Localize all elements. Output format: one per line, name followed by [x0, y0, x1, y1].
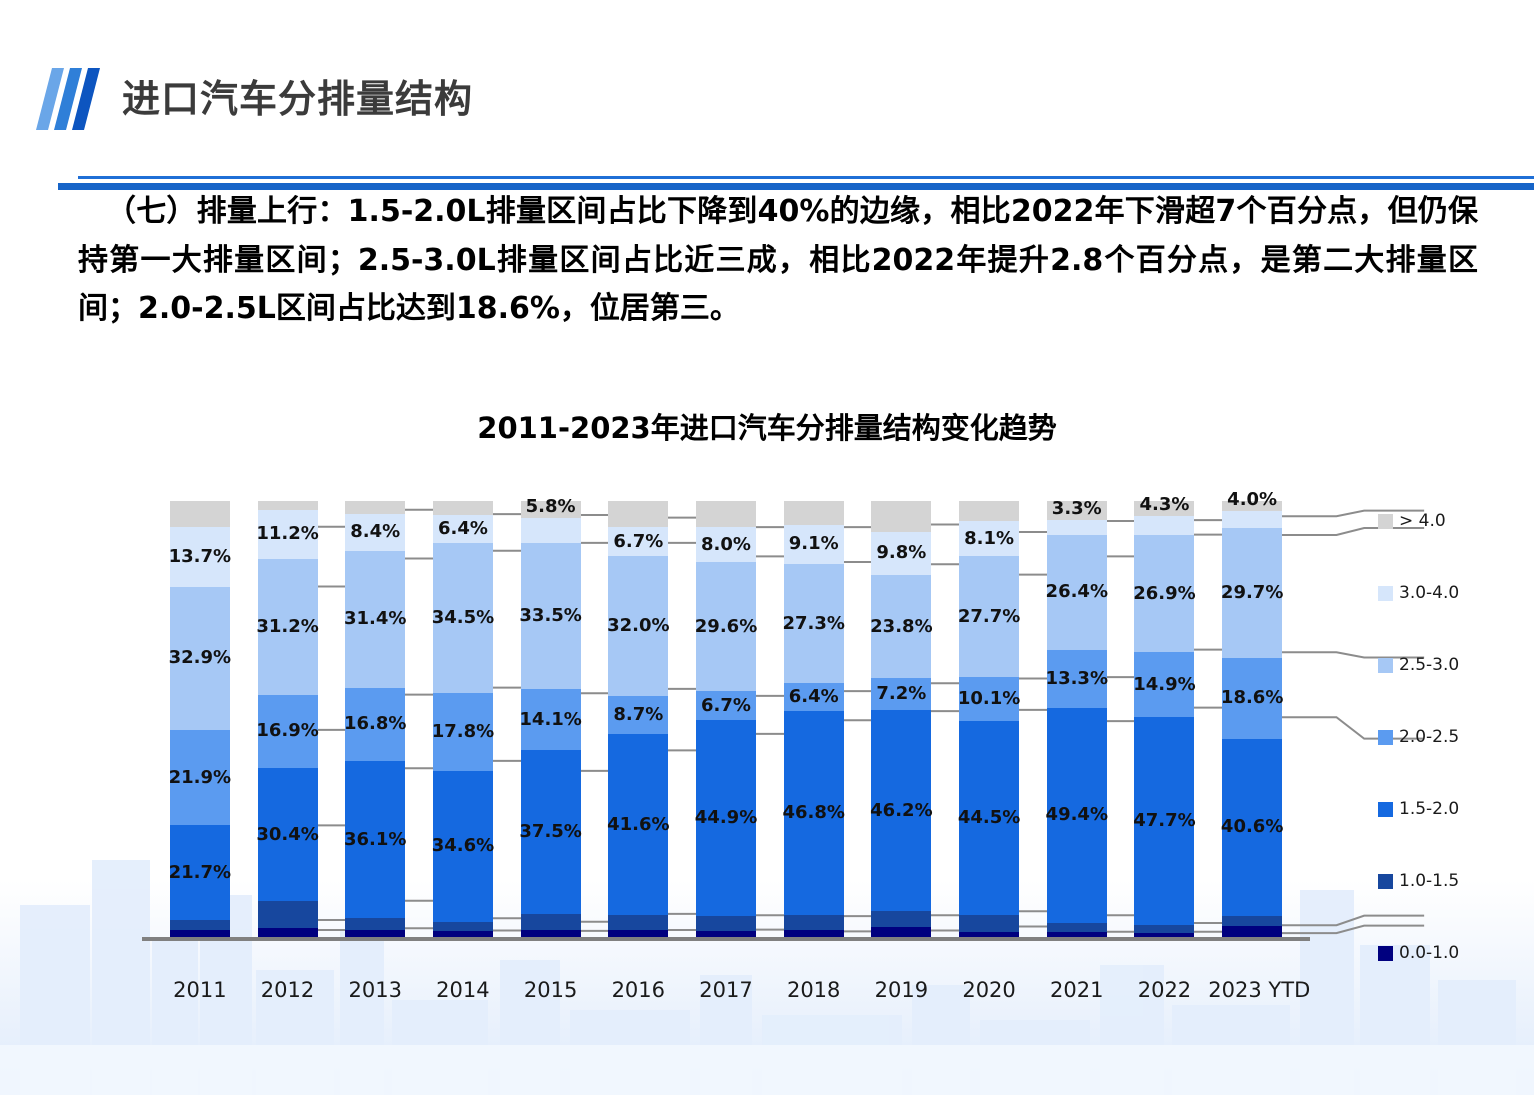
bar-segment	[170, 920, 230, 930]
legend-item[interactable]: 1.5-2.0	[1378, 800, 1459, 818]
bar-segment-label: 21.7%	[169, 864, 231, 882]
bar-segment: 21.7%	[170, 825, 230, 920]
bar-segment	[1222, 926, 1282, 937]
bar-segment-label: 27.3%	[782, 615, 844, 633]
bar-segment: 46.2%	[871, 710, 931, 911]
x-axis-label: 2019	[858, 978, 946, 1002]
bar-segment-label: 13.3%	[1046, 670, 1108, 688]
bar-segment	[871, 501, 931, 532]
bar-column: 49.4%13.3%26.4%3.3%	[1047, 501, 1107, 937]
bar-segment	[696, 916, 756, 931]
bar-column: 44.9%6.7%29.6%8.0%	[696, 501, 756, 937]
bar-segment-label: 31.4%	[344, 610, 406, 628]
bar-segment-label: 17.8%	[432, 723, 494, 741]
bar-segment: 8.1%	[959, 521, 1019, 556]
bar-segment-label: 9.1%	[789, 535, 839, 553]
legend-label: 0.0-1.0	[1399, 943, 1459, 963]
bar-segment-label: 44.5%	[958, 809, 1020, 827]
bar-segment: 34.5%	[433, 543, 493, 693]
bar-segment-label: 8.0%	[701, 536, 751, 554]
bar-segment-label: 6.7%	[701, 697, 751, 715]
bar-segment: 29.7%	[1222, 528, 1282, 657]
bar-segment: 44.9%	[696, 720, 756, 916]
bar-segment: 13.7%	[170, 527, 230, 587]
bar-segment: 30.4%	[258, 768, 318, 901]
bar-segment-label: 6.4%	[438, 520, 488, 538]
legend-item[interactable]: 0.0-1.0	[1378, 944, 1459, 962]
bar-segment-label: 34.6%	[432, 837, 494, 855]
bar-segment: 14.9%	[1134, 652, 1194, 717]
bar-column: 40.6%18.6%29.7%4.0%	[1222, 501, 1282, 937]
x-axis-label: 2018	[770, 978, 858, 1002]
bar-segment	[345, 918, 405, 930]
bar-segment-label: 8.4%	[350, 523, 400, 541]
legend-item[interactable]: 2.0-2.5	[1378, 728, 1459, 746]
legend-label: 1.5-2.0	[1399, 799, 1459, 819]
bar-segment	[1222, 916, 1282, 926]
bar-segment: 27.3%	[784, 564, 844, 683]
bar-segment: 5.8%	[521, 518, 581, 543]
bar-segment-label: 4.3%	[1139, 496, 1189, 514]
bar-segment: 3.3%	[1047, 520, 1107, 534]
bar-segment	[608, 915, 668, 929]
bar-segment: 6.7%	[608, 527, 668, 556]
legend-label: 2.5-3.0	[1399, 655, 1459, 675]
bar-segment-label: 7.2%	[876, 685, 926, 703]
legend-swatch-icon	[1378, 730, 1393, 745]
bar-segment-label: 40.6%	[1221, 818, 1283, 836]
bar-segment: 31.2%	[258, 559, 318, 695]
x-axis-label: 2014	[419, 978, 507, 1002]
legend-swatch-icon	[1378, 874, 1393, 889]
legend-label: > 4.0	[1399, 511, 1446, 531]
plot-area: 21.7%21.9%32.9%13.7%30.4%16.9%31.2%11.2%…	[142, 470, 1310, 970]
bar-segment: 40.6%	[1222, 739, 1282, 916]
legend-swatch-icon	[1378, 802, 1393, 817]
bar-segment-label: 18.6%	[1221, 689, 1283, 707]
bar-segment: 6.4%	[784, 683, 844, 711]
bar-segment: 32.0%	[608, 556, 668, 696]
legend-swatch-icon	[1378, 514, 1393, 529]
bar-column: 21.7%21.9%32.9%13.7%	[170, 501, 230, 937]
bar-segment: 26.4%	[1047, 535, 1107, 650]
bar-segment	[959, 915, 1019, 932]
bar-segment: 29.6%	[696, 562, 756, 691]
x-axis-label: 2022	[1121, 978, 1209, 1002]
bar-segment	[170, 501, 230, 527]
bar-segment: 4.0%	[1222, 511, 1282, 528]
bar-segment-label: 32.9%	[169, 649, 231, 667]
bar-segment-label: 34.5%	[432, 609, 494, 627]
bar-segment: 14.1%	[521, 689, 581, 750]
bar-segment	[1047, 923, 1107, 932]
x-axis-line	[142, 937, 1310, 941]
bar-segment-label: 26.4%	[1046, 583, 1108, 601]
bar-segment-label: 31.2%	[256, 618, 318, 636]
bar-segment: 47.7%	[1134, 717, 1194, 925]
bar-segment-label: 37.5%	[519, 823, 581, 841]
bar-segment	[345, 501, 405, 514]
bar-segment: 49.4%	[1047, 708, 1107, 923]
legend-item[interactable]: 3.0-4.0	[1378, 584, 1459, 602]
bar-segment-label: 26.9%	[1133, 585, 1195, 603]
bar-column: 47.7%14.9%26.9%4.3%	[1134, 501, 1194, 937]
bar-segment-label: 44.9%	[695, 809, 757, 827]
bar-column: 34.6%17.8%34.5%6.4%	[433, 501, 493, 937]
bar-segment: 33.5%	[521, 543, 581, 689]
bar-segment: 16.8%	[345, 688, 405, 761]
bar-segment-label: 16.8%	[344, 715, 406, 733]
x-axis-label: 2013	[331, 978, 419, 1002]
bar-segment	[608, 930, 668, 937]
bar-segment	[258, 501, 318, 510]
bar-segment	[258, 928, 318, 937]
x-axis-label: 2012	[244, 978, 332, 1002]
bar-segment-label: 14.1%	[519, 711, 581, 729]
x-axis-labels: 2011201220132014201520162017201820192020…	[142, 978, 1310, 1018]
bar-segment-label: 46.2%	[870, 802, 932, 820]
legend-swatch-icon	[1378, 946, 1393, 961]
bar-segment: 4.3%	[1134, 516, 1194, 535]
bar-segment: 34.6%	[433, 771, 493, 922]
bar-segment	[784, 501, 844, 525]
bar-segment: 9.8%	[871, 532, 931, 575]
bar-segment-label: 9.8%	[876, 544, 926, 562]
legend-swatch-icon	[1378, 658, 1393, 673]
bar-segment: 10.1%	[959, 677, 1019, 721]
bar-segment	[433, 922, 493, 931]
bar-segment-label: 33.5%	[519, 607, 581, 625]
bar-column: 41.6%8.7%32.0%6.7%	[608, 501, 668, 937]
page-title: 进口汽车分排量结构	[122, 68, 473, 123]
bar-segment: 17.8%	[433, 693, 493, 771]
bar-column: 37.5%14.1%33.5%5.8%	[521, 501, 581, 937]
bar-segment: 16.9%	[258, 695, 318, 769]
x-axis-label: 2017	[682, 978, 770, 1002]
bar-segment-label: 36.1%	[344, 831, 406, 849]
bar-segment-label: 10.1%	[958, 690, 1020, 708]
bar-segment-label: 6.4%	[789, 688, 839, 706]
bar-segment	[871, 927, 931, 937]
bar-segment	[784, 915, 844, 930]
bar-segment-label: 8.7%	[613, 706, 663, 724]
header-rule-thin	[78, 176, 1534, 179]
bar-segment: 23.8%	[871, 575, 931, 679]
bar-segment-label: 23.8%	[870, 618, 932, 636]
bar-column: 44.5%10.1%27.7%8.1%	[959, 501, 1019, 937]
bar-segment-label: 3.3%	[1052, 500, 1102, 518]
bar-segment	[959, 501, 1019, 521]
bar-column: 30.4%16.9%31.2%11.2%	[258, 501, 318, 937]
bar-segment-label: 29.6%	[695, 618, 757, 636]
body-paragraph: （七）排量上行：1.5-2.0L排量区间占比下降到40%的边缘，相比2022年下…	[78, 188, 1478, 334]
bar-segment-label: 30.4%	[256, 826, 318, 844]
bar-segment-label: 41.6%	[607, 816, 669, 834]
bar-segment-label: 47.7%	[1133, 812, 1195, 830]
chart-title: 2011-2023年进口汽车分排量结构变化趋势	[0, 405, 1534, 447]
bar-segment-label: 4.0%	[1227, 491, 1277, 509]
bar-segment: 7.2%	[871, 678, 931, 709]
bar-segment: 31.4%	[345, 551, 405, 688]
bar-segment-label: 5.8%	[526, 498, 576, 516]
bar-segment: 18.6%	[1222, 658, 1282, 739]
x-axis-label: 2021	[1033, 978, 1121, 1002]
bar-segment	[433, 501, 493, 515]
bar-segment: 41.6%	[608, 734, 668, 915]
bar-segment	[170, 930, 230, 937]
x-axis-label: 2015	[507, 978, 595, 1002]
bar-segment-label: 29.7%	[1221, 584, 1283, 602]
bar-segment-label: 13.7%	[169, 548, 231, 566]
bar-segment: 8.0%	[696, 527, 756, 562]
bar-segment-label: 32.0%	[607, 617, 669, 635]
bar-segment: 21.9%	[170, 730, 230, 825]
bar-segment: 37.5%	[521, 750, 581, 914]
legend-label: 2.0-2.5	[1399, 727, 1459, 747]
bar-column: 36.1%16.8%31.4%8.4%	[345, 501, 405, 937]
bar-segment: 8.4%	[345, 514, 405, 551]
x-axis-label: 2023 YTD	[1208, 978, 1296, 1002]
bar-segment-label: 6.7%	[613, 533, 663, 551]
bar-segment-label: 27.7%	[958, 608, 1020, 626]
bar-segment-label: 14.9%	[1133, 676, 1195, 694]
bar-segment-label: 16.9%	[256, 722, 318, 740]
bar-segment	[871, 911, 931, 926]
bar-segment-label: 21.9%	[169, 769, 231, 787]
bar-segment	[521, 930, 581, 937]
bar-segment: 6.4%	[433, 515, 493, 543]
bar-segment	[696, 501, 756, 527]
bar-column: 46.8%6.4%27.3%9.1%	[784, 501, 844, 937]
x-axis-label: 2016	[594, 978, 682, 1002]
bar-segment: 27.7%	[959, 556, 1019, 677]
bar-segment: 13.3%	[1047, 650, 1107, 708]
bar-segment-label: 46.8%	[782, 804, 844, 822]
legend-item[interactable]: 1.0-1.5	[1378, 872, 1459, 890]
bar-segment-label: 11.2%	[256, 525, 318, 543]
bar-segment	[521, 914, 581, 930]
bar-segment: 9.1%	[784, 525, 844, 565]
bar-segment: 46.8%	[784, 711, 844, 915]
bar-segment	[608, 501, 668, 527]
bar-segment: 6.7%	[696, 691, 756, 720]
bar-segment	[1134, 925, 1194, 933]
bar-segment: 36.1%	[345, 761, 405, 918]
bar-segment	[258, 901, 318, 928]
stacked-bar-chart: 21.7%21.9%32.9%13.7%30.4%16.9%31.2%11.2%…	[0, 470, 1534, 1030]
x-axis-label: 2020	[945, 978, 1033, 1002]
bar-segment-label: 49.4%	[1046, 806, 1108, 824]
bar-segment: 44.5%	[959, 721, 1019, 915]
bar-segment: 11.2%	[258, 510, 318, 559]
legend-label: 3.0-4.0	[1399, 583, 1459, 603]
triple-slash-logo-icon	[22, 68, 100, 130]
bar-segment-label: 8.1%	[964, 530, 1014, 548]
page-header: 进口汽车分排量结构	[0, 54, 1534, 146]
bar-segment: 32.9%	[170, 587, 230, 730]
legend-item[interactable]: 2.5-3.0	[1378, 656, 1459, 674]
legend-swatch-icon	[1378, 586, 1393, 601]
x-axis-label: 2011	[156, 978, 244, 1002]
bar-segment: 8.7%	[608, 696, 668, 734]
bar-column: 46.2%7.2%23.8%9.8%	[871, 501, 931, 937]
bar-segment: 26.9%	[1134, 535, 1194, 652]
legend-label: 1.0-1.5	[1399, 871, 1459, 891]
legend-item[interactable]: > 4.0	[1378, 512, 1446, 530]
